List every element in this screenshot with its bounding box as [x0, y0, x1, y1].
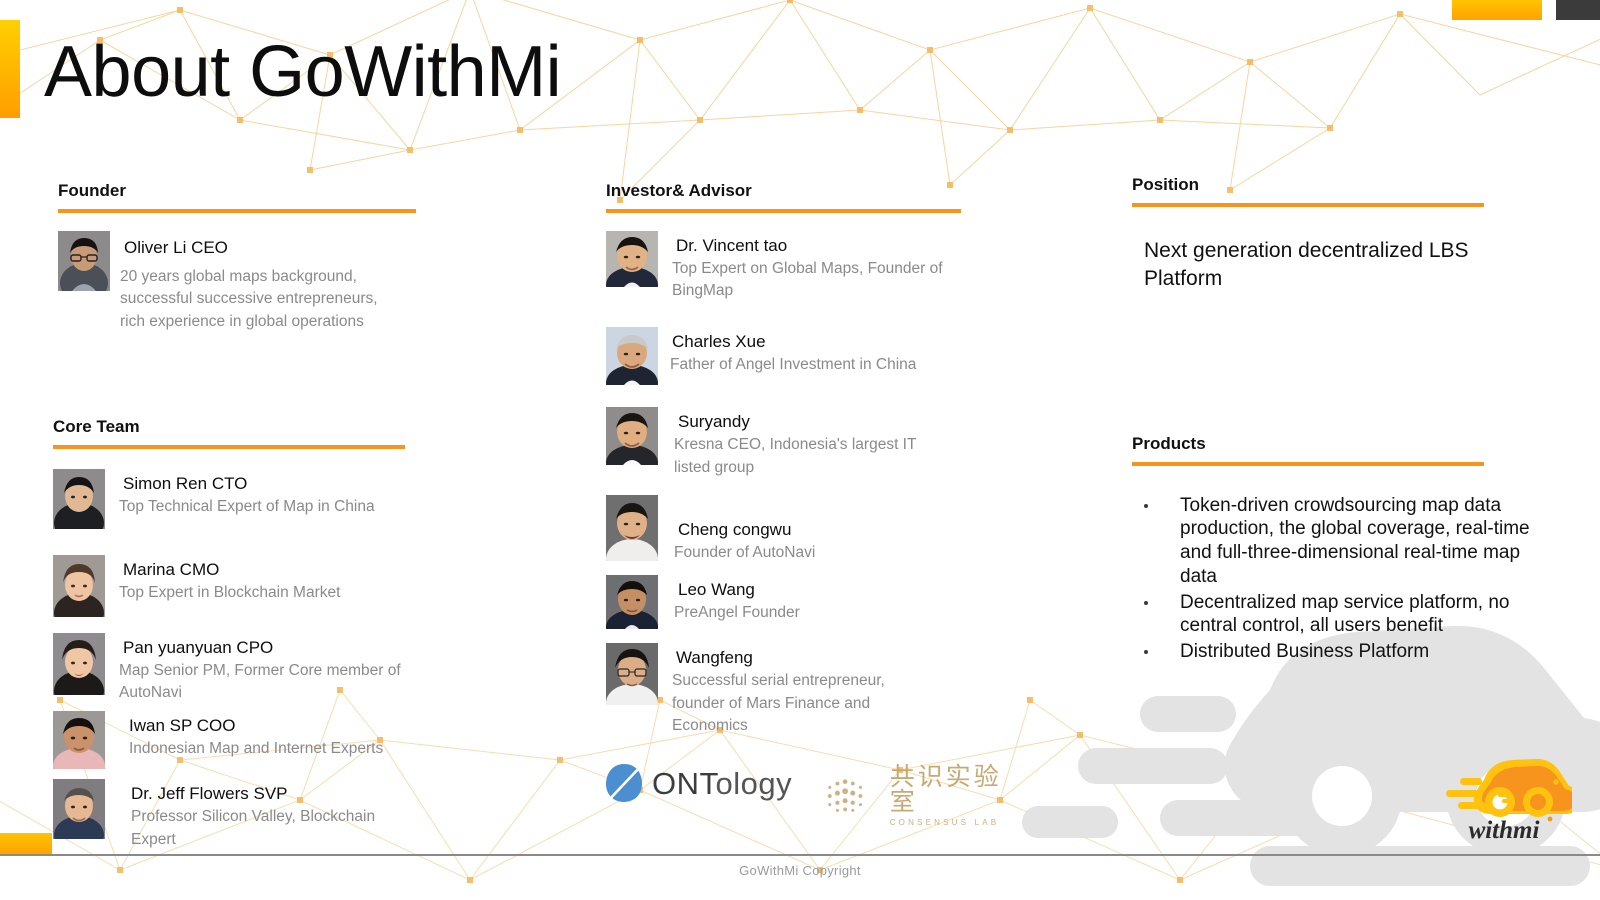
avatar — [53, 779, 105, 839]
person-name: Leo Wang — [678, 575, 961, 600]
person-desc: Top Expert in Blockchain Market — [119, 580, 405, 604]
bullet-icon — [1144, 650, 1148, 654]
avatar — [606, 407, 658, 465]
bullet-icon — [1144, 504, 1148, 508]
avatar — [606, 575, 658, 629]
person-card: Leo Wang PreAngel Founder — [606, 575, 961, 629]
section-rule-founder — [58, 209, 416, 213]
footer-divider — [0, 854, 1600, 856]
person-name: Oliver Li CEO — [124, 231, 416, 258]
partner-logo-consensus-lab: 共识实验室 CONSENSUS LAB — [824, 764, 1024, 827]
avatar — [58, 231, 110, 291]
partner-logos: ONTology 共识实验室 CONSENSUS LAB — [604, 762, 1024, 810]
list-item: Distributed Business Platform — [1132, 640, 1532, 664]
person-name: Suryandy — [678, 407, 961, 432]
person-card: Pan yuanyuan CPO Map Senior PM, Former C… — [53, 633, 405, 705]
bullet-icon — [1144, 601, 1148, 605]
person-name: Charles Xue — [672, 327, 961, 352]
footer-copyright: GoWithMi Copyright — [0, 863, 1600, 878]
avatar — [606, 231, 658, 287]
avatar — [53, 469, 105, 529]
avatar — [53, 711, 105, 769]
section-heading-core-team: Core Team — [53, 418, 405, 437]
person-desc: PreAngel Founder — [674, 600, 964, 624]
person-card: Dr. Vincent tao Top Expert on Global Map… — [606, 231, 961, 303]
person-name: Dr. Jeff Flowers SVP — [131, 779, 405, 804]
brand-logo-gowithmi: withmi — [1432, 738, 1572, 848]
person-card: Suryandy Kresna CEO, Indonesia's largest… — [606, 407, 961, 479]
title-accent-bar — [0, 20, 20, 118]
avatar — [53, 555, 105, 617]
person-card: Marina CMO Top Expert in Blockchain Mark… — [53, 555, 405, 617]
person-desc: Professor Silicon Valley, Blockchain Exp… — [131, 804, 405, 851]
section-core-team: Core Team Simon Ren CTO Top Technical Ex… — [53, 418, 405, 851]
person-card: Oliver Li CEO 20 years global maps backg… — [58, 231, 416, 334]
person-name: Pan yuanyuan CPO — [123, 633, 405, 658]
list-item: Decentralized map service platform, no c… — [1132, 591, 1532, 639]
list-item-text: Token-driven crowdsourcing map data prod… — [1180, 495, 1530, 587]
person-desc: Founder of AutoNavi — [674, 540, 964, 564]
ontology-leaf-icon — [604, 762, 644, 804]
person-card: Wangfeng Successful serial entrepreneur,… — [606, 643, 961, 738]
products-list: Token-driven crowdsourcing map data prod… — [1132, 494, 1532, 664]
position-text: Next generation decentralized LBS Platfo… — [1144, 237, 1488, 294]
section-position: Position Next generation decentralized L… — [1132, 176, 1484, 294]
avatar — [606, 327, 658, 385]
person-name: Marina CMO — [123, 555, 405, 580]
person-desc: Father of Angel Investment in China — [670, 352, 960, 376]
person-desc: Kresna CEO, Indonesia's largest IT liste… — [674, 432, 949, 479]
person-name: Dr. Vincent tao — [676, 231, 961, 256]
section-heading-position: Position — [1132, 176, 1484, 195]
section-founder: Founder Oliver Li CEO 20 years global ma… — [58, 182, 416, 333]
person-desc: Top Technical Expert of Map in China — [119, 494, 405, 518]
section-heading-products: Products — [1132, 435, 1484, 454]
consensus-lab-dots-icon — [824, 777, 878, 815]
person-card: Dr. Jeff Flowers SVP Professor Silicon V… — [53, 779, 405, 851]
corner-accent-dark — [1556, 0, 1600, 20]
partner-label-ontology: ONTology — [652, 768, 792, 799]
person-desc: Map Senior PM, Former Core member of Aut… — [119, 658, 439, 705]
list-item-text: Distributed Business Platform — [1180, 641, 1429, 662]
partner-logo-ontology: ONTology — [604, 762, 792, 804]
section-products: Products Token-driven crowdsourcing map … — [1132, 435, 1484, 666]
person-desc: Indonesian Map and Internet Experts — [129, 736, 405, 760]
person-desc: 20 years global maps background, success… — [120, 258, 388, 333]
avatar — [606, 495, 658, 561]
person-card: Charles Xue Father of Angel Investment i… — [606, 327, 961, 385]
person-desc: Successful serial entrepreneur, founder … — [672, 668, 927, 737]
partner-label-consensus-lab-en: CONSENSUS LAB — [890, 818, 1024, 827]
page-title: About GoWithMi — [44, 36, 561, 108]
corner-accent-orange — [1452, 0, 1542, 20]
person-card: Simon Ren CTO Top Technical Expert of Ma… — [53, 469, 405, 533]
section-rule-core-team — [53, 445, 405, 449]
list-item-text: Decentralized map service platform, no c… — [1180, 592, 1509, 637]
section-rule-products — [1132, 462, 1484, 466]
slide-about-gowithmi: About GoWithMi Founder Oliver Li CEO 20 … — [0, 0, 1600, 900]
corner-accent-bottom-left — [0, 833, 52, 855]
person-name: Iwan SP COO — [129, 711, 405, 736]
person-name: Simon Ren CTO — [123, 469, 405, 494]
section-heading-investor-advisor: Investor& Advisor — [606, 182, 961, 201]
section-rule-investor-advisor — [606, 209, 961, 213]
section-heading-founder: Founder — [58, 182, 416, 201]
list-item: Token-driven crowdsourcing map data prod… — [1132, 494, 1532, 589]
person-card: Iwan SP COO Indonesian Map and Internet … — [53, 711, 405, 769]
avatar — [53, 633, 105, 695]
section-investor-advisor: Investor& Advisor Dr. Vincent tao Top Ex… — [606, 182, 961, 737]
brand-wordmark: withmi — [1469, 817, 1540, 844]
person-desc: Top Expert on Global Maps, Founder of Bi… — [672, 256, 962, 303]
person-name: Cheng congwu — [678, 495, 961, 540]
partner-label-consensus-lab-cn: 共识实验室 — [890, 764, 1024, 814]
person-name: Wangfeng — [676, 643, 961, 668]
section-rule-position — [1132, 203, 1484, 207]
avatar — [606, 643, 658, 705]
person-card: Cheng congwu Founder of AutoNavi — [606, 495, 961, 565]
